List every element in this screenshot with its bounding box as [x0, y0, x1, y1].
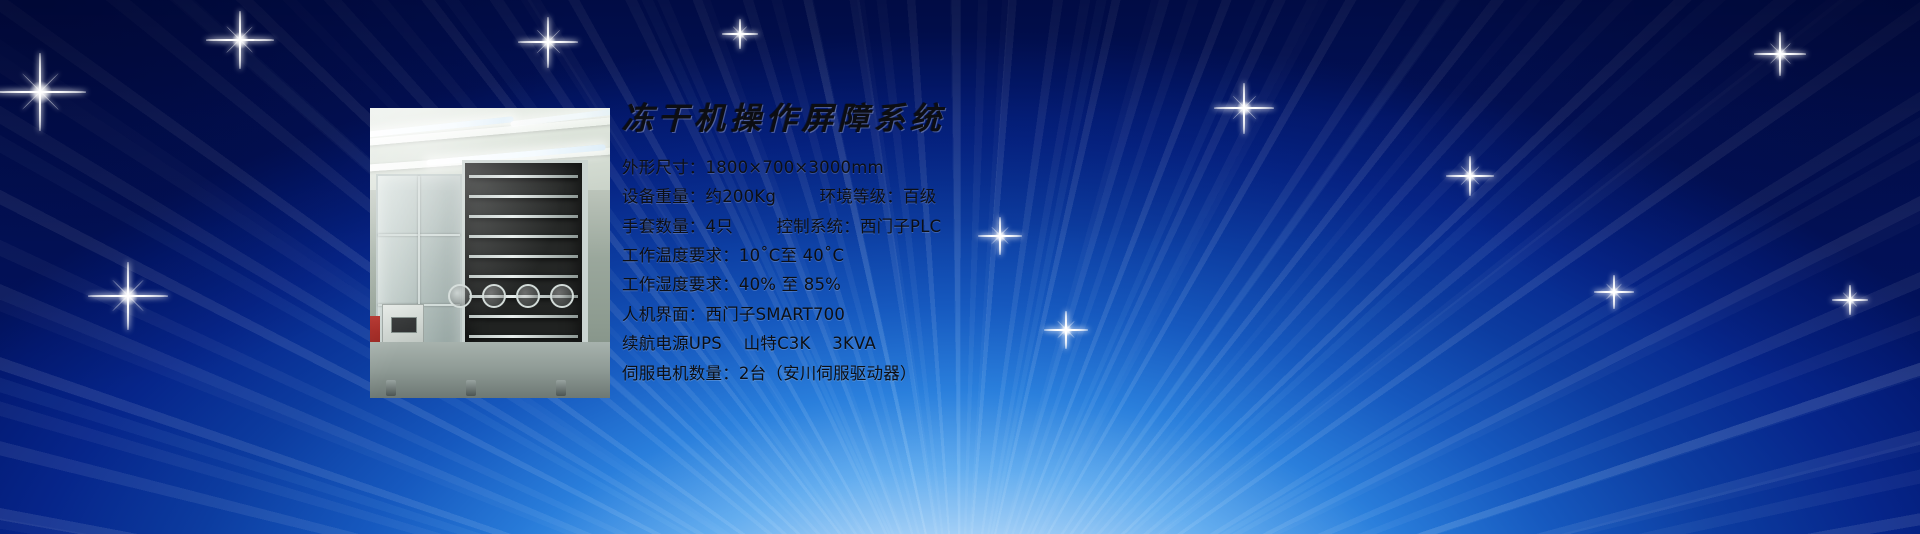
- glove-port-icon: [516, 284, 540, 308]
- chamber-shelf: [469, 315, 578, 318]
- spec-item-dimensions: 外形尺寸：1800×700×3000mm: [622, 153, 1262, 182]
- promo-banner: 冻干机操作屏障系统 外形尺寸：1800×700×3000mm 设备重量：约200…: [0, 0, 1920, 534]
- spec-list: 外形尺寸：1800×700×3000mm 设备重量：约200Kg 环境等级：百级…: [622, 153, 1262, 388]
- spec-item-hmi: 人机界面：西门子SMART700: [622, 300, 1262, 329]
- glove-port-icon: [550, 284, 574, 308]
- hmi-screen: [391, 317, 417, 333]
- glove-port-icon: [448, 284, 472, 308]
- chamber-shelf: [469, 335, 578, 338]
- spec-item-gloves-control: 手套数量：4只 控制系统：西门子PLC: [622, 212, 1262, 241]
- banner-content: 冻干机操作屏障系统 外形尺寸：1800×700×3000mm 设备重量：约200…: [622, 104, 1262, 388]
- chamber-shelf: [469, 195, 578, 198]
- equipment-base-frame: [370, 342, 610, 398]
- spec-item-servo-motors: 伺服电机数量：2台（安川伺服驱动器）: [622, 359, 1262, 388]
- spec-item-humidity: 工作湿度要求：40% 至 85%: [622, 270, 1262, 299]
- spec-item-weight-cleanliness: 设备重量：约200Kg 环境等级：百级: [622, 182, 1262, 211]
- chamber-shelf: [469, 175, 578, 178]
- chamber-shelf: [469, 275, 578, 278]
- chamber-shelf: [469, 255, 578, 258]
- glove-port-icon: [482, 284, 506, 308]
- chamber-shelf: [469, 235, 578, 238]
- page-title: 冻干机操作屏障系统: [622, 104, 1262, 135]
- caster-foot: [466, 380, 476, 396]
- product-photo: [370, 108, 610, 398]
- spec-item-temperature: 工作温度要求：10˚C至 40˚C: [622, 241, 1262, 270]
- chamber-shelf: [469, 215, 578, 218]
- spec-item-ups: 续航电源UPS 山特C3K 3KVA: [622, 329, 1262, 358]
- caster-foot: [386, 380, 396, 396]
- caster-foot: [556, 380, 566, 396]
